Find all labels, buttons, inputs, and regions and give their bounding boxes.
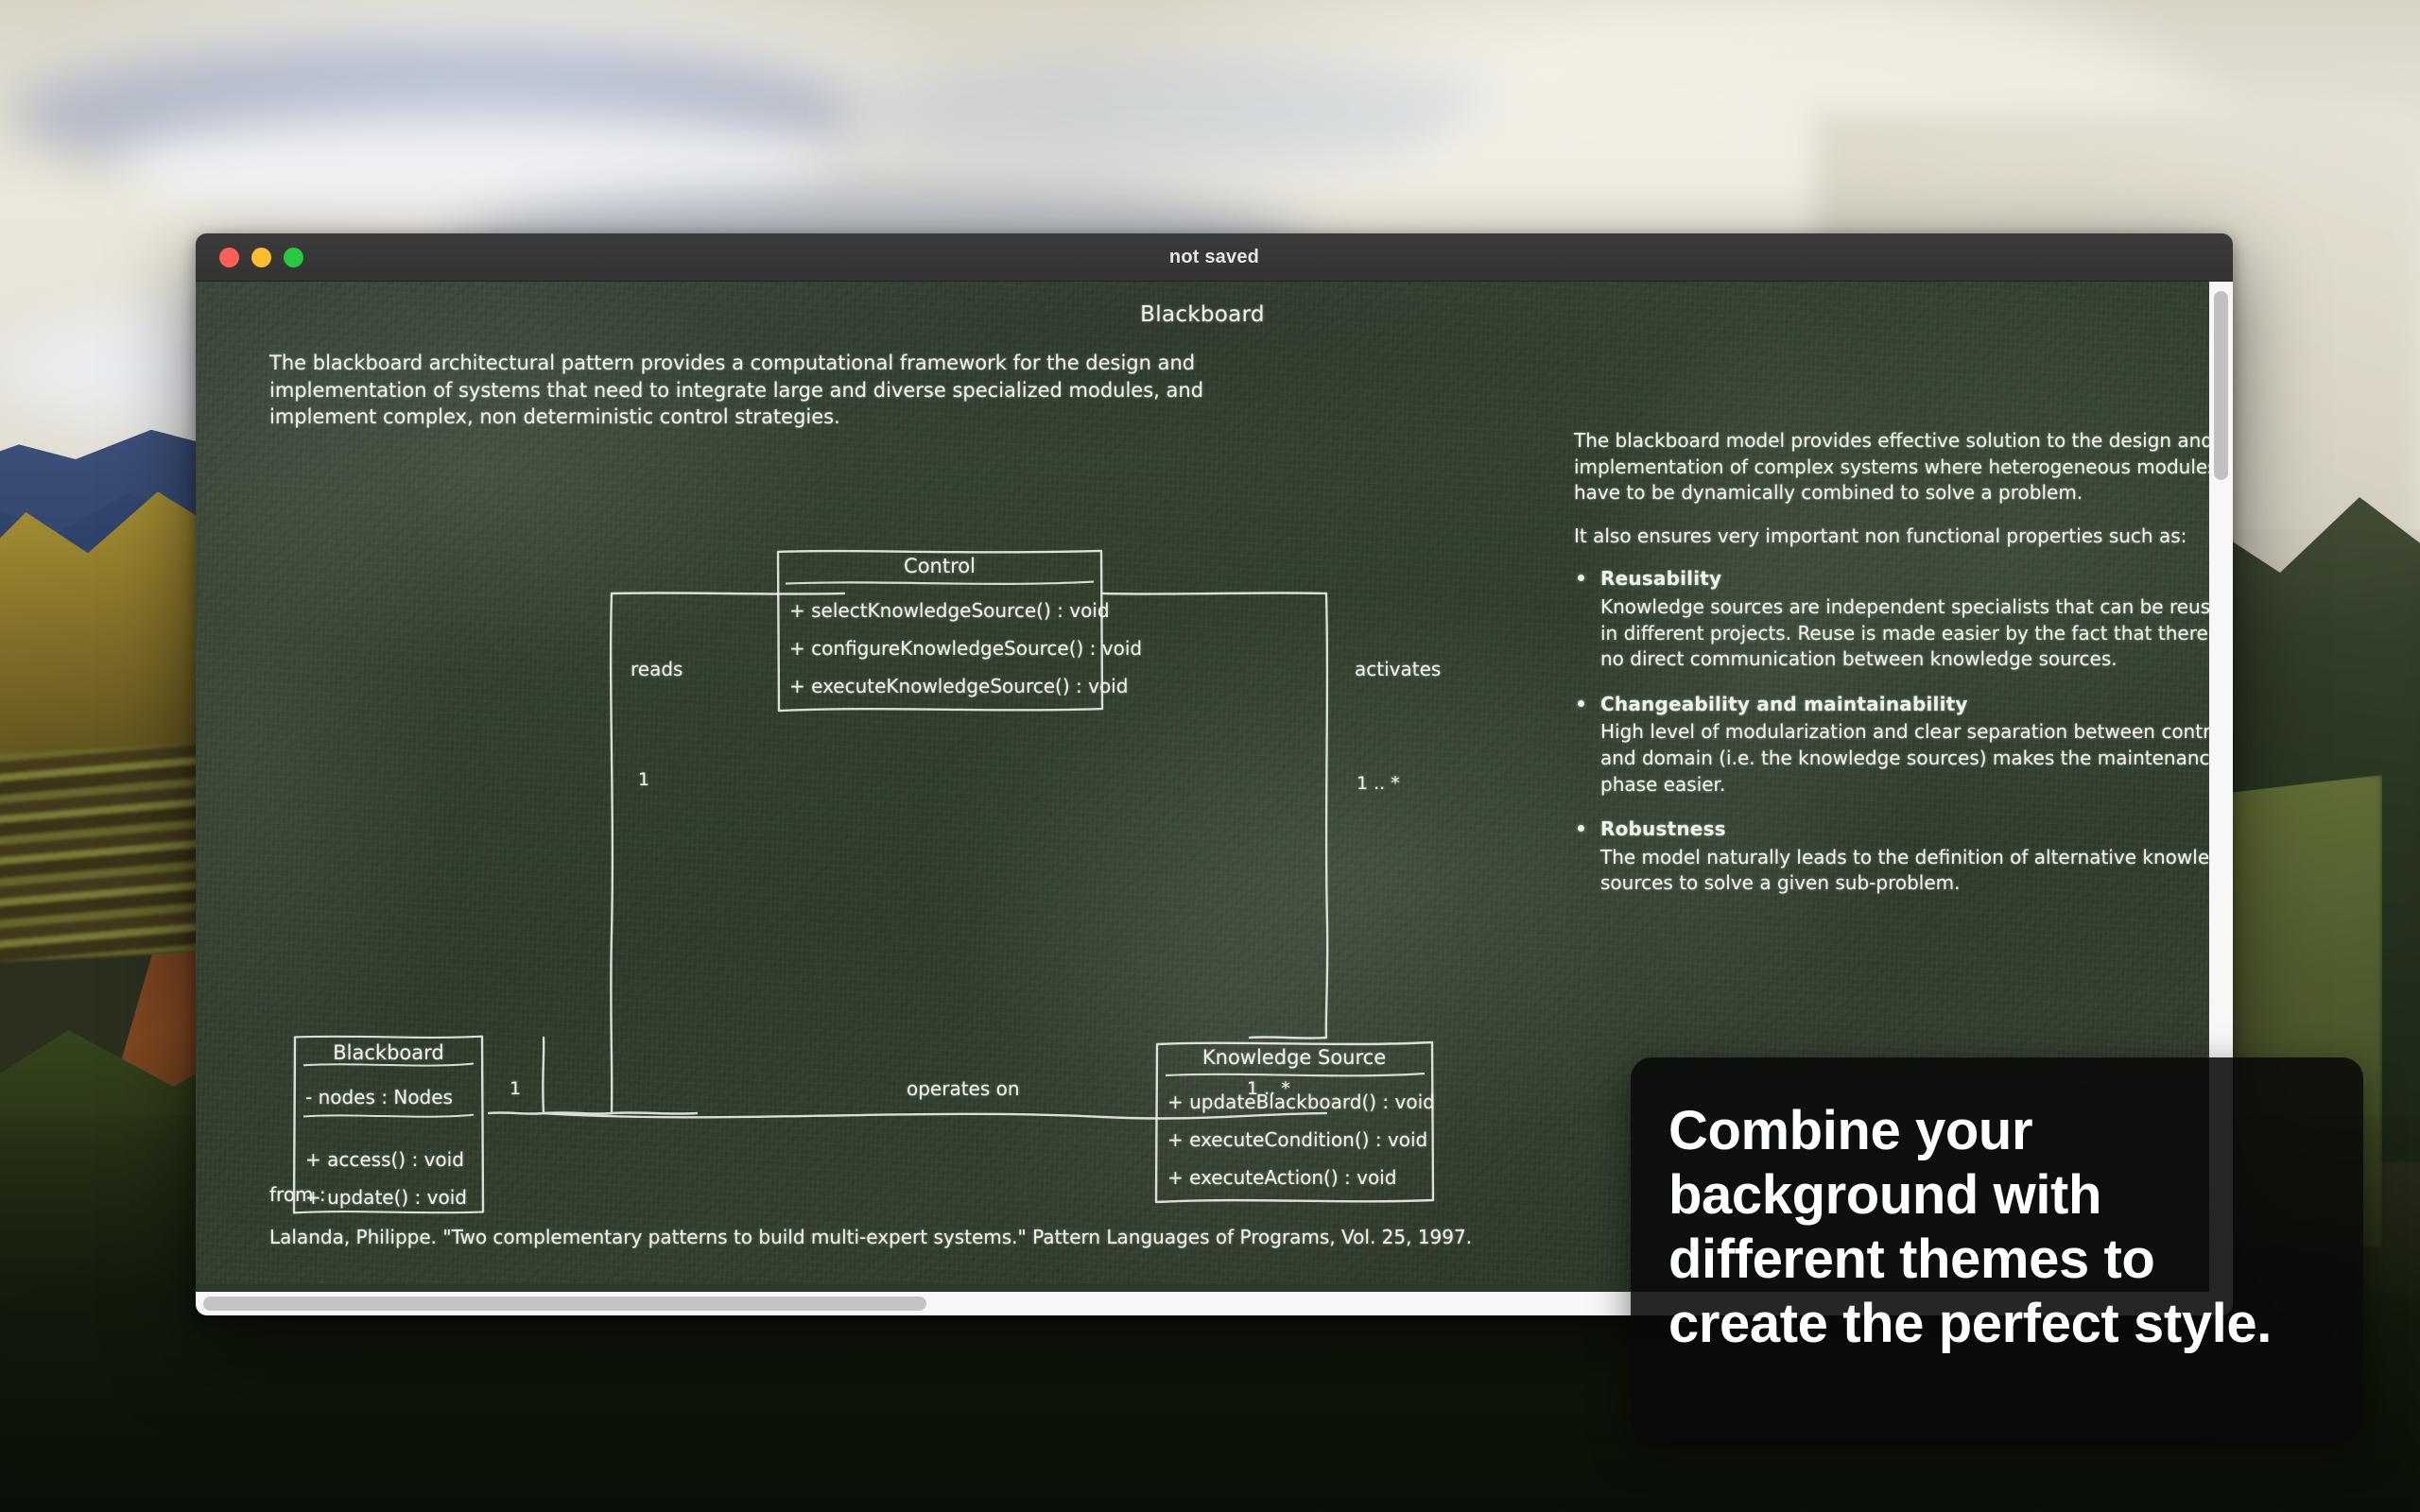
wallpaper-cloud <box>851 57 1512 170</box>
uml-method: + configureKnowledgeSource() : void <box>774 629 1105 667</box>
list-item: Changeability and maintainability High l… <box>1574 692 2233 798</box>
uml-method: + update() : void <box>290 1178 487 1216</box>
association-label-operates-on: operates on <box>907 1077 1020 1100</box>
horizontal-scrollbar-thumb[interactable] <box>203 1297 926 1311</box>
benefits-list: Reusability Knowledge sources are indepe… <box>1574 566 2233 897</box>
association-multiplicity-operates-on-far: 1 .. * <box>1247 1078 1290 1099</box>
list-item: Reusability Knowledge sources are indepe… <box>1574 566 2233 672</box>
uml-divider <box>302 1071 475 1073</box>
benefit-term: Reusability <box>1600 566 2233 593</box>
caption-text: Combine your background with different t… <box>1668 1099 2318 1355</box>
association-label-reads: reads <box>631 658 683 680</box>
uml-divider <box>1164 1075 1425 1077</box>
uml-method: + executeCondition() : void <box>1152 1121 1436 1159</box>
marketing-caption-overlay: Combine your background with different t… <box>1631 1057 2363 1440</box>
uml-class-name: Blackboard <box>290 1033 487 1071</box>
uml-class-name: Control <box>774 546 1105 584</box>
uml-method: + executeAction() : void <box>1152 1159 1436 1196</box>
traffic-lights <box>219 248 303 267</box>
benefit-description: High level of modularization and clear s… <box>1600 719 2233 798</box>
association-multiplicity-operates-on-near: 1 <box>510 1078 521 1099</box>
citation-text: Lalanda, Philippe. "Two complementary pa… <box>269 1224 1687 1251</box>
benefit-term: Robustness <box>1600 816 2233 843</box>
uml-method: + updateBlackboard() : void <box>1152 1083 1436 1121</box>
uml-class-name: Knowledge Source <box>1152 1038 1436 1075</box>
uml-method: + selectKnowledgeSource() : void <box>774 592 1105 629</box>
intro-paragraph: The blackboard architectural pattern pro… <box>269 350 1215 431</box>
uml-class-control[interactable]: Control + selectKnowledgeSource() : void… <box>774 546 1105 714</box>
uml-method: + executeKnowledgeSource() : void <box>774 667 1105 705</box>
bullet-dot-icon <box>1578 575 1584 581</box>
benefit-term: Changeability and maintainability <box>1600 692 2233 718</box>
uml-class-blackboard[interactable]: Blackboard - nodes : Nodes + access() : … <box>290 1033 487 1216</box>
association-multiplicity-activates: 1 .. * <box>1357 773 1400 794</box>
minimize-window-icon[interactable] <box>251 248 271 267</box>
page-title: Blackboard <box>196 302 2209 327</box>
uml-divider <box>786 584 1094 586</box>
right-paragraph-2: It also ensures very important non funct… <box>1574 524 2233 550</box>
right-text-panel: The blackboard model provides effective … <box>1574 428 2233 916</box>
benefit-description: Knowledge sources are independent specia… <box>1600 594 2233 673</box>
uml-attribute: - nodes : Nodes <box>290 1078 487 1116</box>
bullet-dot-icon <box>1578 700 1584 707</box>
uml-method: + access() : void <box>290 1141 487 1178</box>
close-window-icon[interactable] <box>219 248 239 267</box>
zoom-window-icon[interactable] <box>284 248 303 267</box>
association-multiplicity-reads: 1 <box>638 769 649 790</box>
list-item: Robustness The model naturally leads to … <box>1574 816 2233 897</box>
vertical-scrollbar-thumb[interactable] <box>2214 291 2228 480</box>
association-label-activates: activates <box>1355 658 1441 680</box>
benefit-description: The model naturally leads to the definit… <box>1600 845 2233 897</box>
right-paragraph-1: The blackboard model provides effective … <box>1574 428 2233 507</box>
window-titlebar[interactable]: not saved <box>196 233 2233 282</box>
uml-divider <box>302 1116 475 1135</box>
uml-class-knowledge-source[interactable]: Knowledge Source + updateBlackboard() : … <box>1152 1038 1436 1206</box>
bullet-dot-icon <box>1578 825 1584 832</box>
window-title: not saved <box>196 247 2233 268</box>
